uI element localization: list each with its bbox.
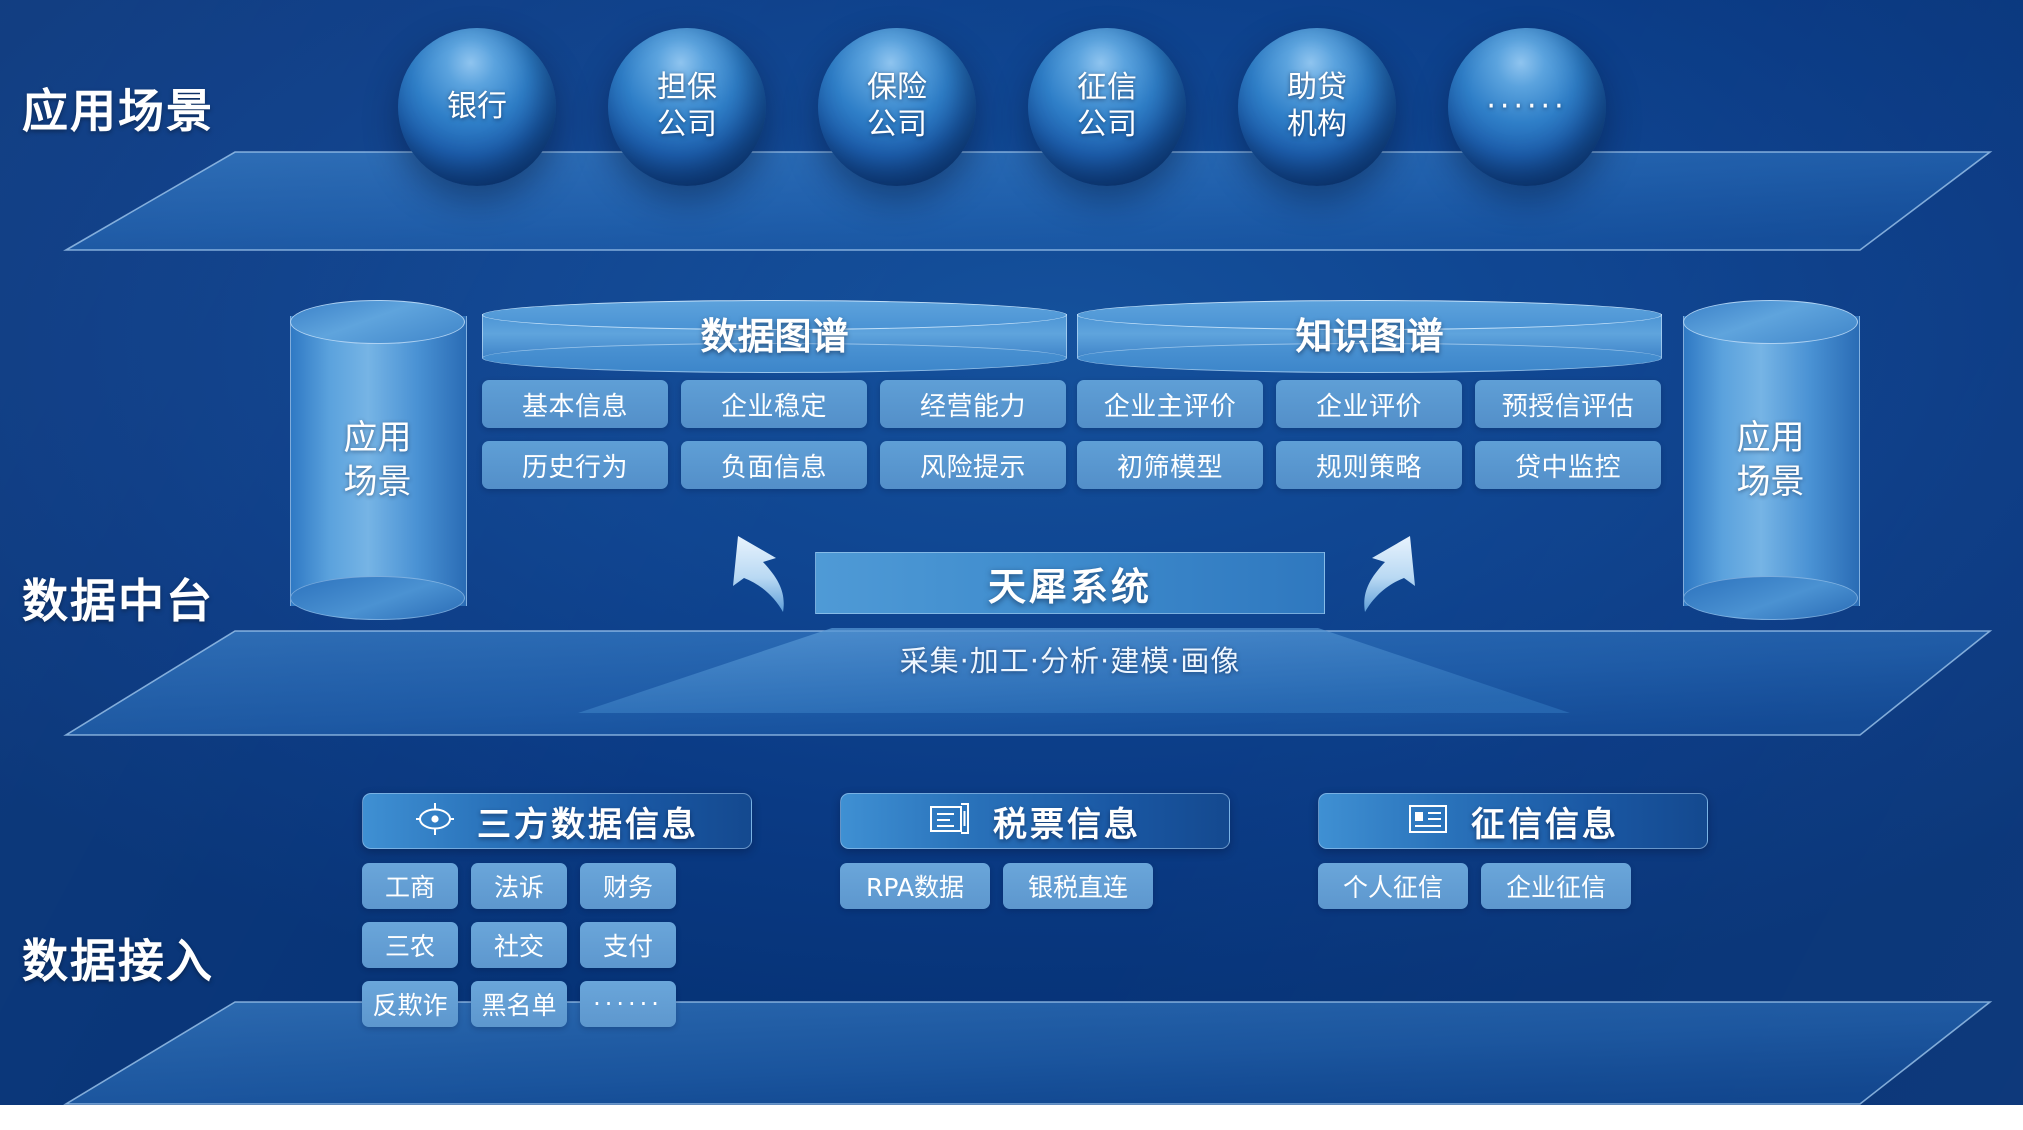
arrow-up-right-icon: [1330, 528, 1440, 638]
sphere-loan-facilitator[interactable]: 助贷 机构: [1238, 28, 1396, 186]
access-group-title: 税票信息: [993, 797, 1141, 846]
row-label-dataaccess: 数据接入: [22, 925, 214, 991]
sphere-bank[interactable]: 银行: [398, 28, 556, 186]
graph-header-disc: 数据图谱: [482, 300, 1067, 366]
platform-dataaccess: [0, 1000, 2023, 1112]
graph-header-disc: 知识图谱: [1077, 300, 1662, 366]
access-tag[interactable]: 支付: [580, 922, 676, 968]
pill-item[interactable]: 基本信息: [482, 380, 668, 428]
architecture-diagram: 应用场景 数据中台 数据接入 银行 担保 公司 保险 公司 征信 公司 助贷 机…: [0, 0, 2023, 1130]
arrow-up-left-icon: [708, 528, 818, 638]
access-tag[interactable]: 企业征信: [1481, 863, 1631, 909]
cylinder-label-wrap: 应用 场景: [290, 300, 465, 620]
pill-item[interactable]: 企业稳定: [681, 380, 867, 428]
platform-application: [0, 150, 2023, 260]
access-group-title: 征信信息: [1471, 797, 1619, 846]
row-label-midplatform: 数据中台: [22, 565, 214, 631]
sphere-insurance-company[interactable]: 保险 公司: [818, 28, 976, 186]
access-tag[interactable]: 工商: [362, 863, 458, 909]
id-card-icon: [1407, 802, 1449, 841]
access-tag[interactable]: 银税直连: [1003, 863, 1153, 909]
sphere-label: 银行: [447, 89, 507, 126]
access-tag[interactable]: RPA数据: [840, 863, 990, 909]
access-tag-grid: 工商 法诉 财务 三农 社交 支付 反欺诈 黑名单 ······: [362, 863, 752, 1027]
access-group-third-party: 三方数据信息 工商 法诉 财务 三农 社交 支付 反欺诈 黑名单 ······: [362, 793, 752, 1027]
cylinder-label: 应用 场景: [1737, 416, 1805, 504]
access-group-title: 三方数据信息: [477, 797, 699, 846]
pill-item[interactable]: 初筛模型: [1077, 441, 1263, 489]
graph-data-map: 数据图谱 基本信息 企业稳定 经营能力 历史行为 负面信息 风险提示: [482, 300, 1067, 489]
pill-item[interactable]: 负面信息: [681, 441, 867, 489]
pill-item[interactable]: 企业主评价: [1077, 380, 1263, 428]
access-group-tax-invoice: 税票信息 RPA数据 银税直连: [840, 793, 1230, 909]
pill-item[interactable]: 历史行为: [482, 441, 668, 489]
sphere-label: ······: [1486, 89, 1567, 126]
pill-item[interactable]: 企业评价: [1276, 380, 1462, 428]
graph-knowledge-map: 知识图谱 企业主评价 企业评价 预授信评估 初筛模型 规则策略 贷中监控: [1077, 300, 1662, 489]
access-tag-grid: 个人征信 企业征信: [1318, 863, 1708, 909]
core-system-subtitle: 采集·加工·分析·建模·画像: [815, 638, 1325, 680]
access-tag[interactable]: 财务: [580, 863, 676, 909]
sphere-credit-company[interactable]: 征信 公司: [1028, 28, 1186, 186]
access-group-header[interactable]: 三方数据信息: [362, 793, 752, 849]
graph-pill-grid: 基本信息 企业稳定 经营能力 历史行为 负面信息 风险提示: [482, 380, 1067, 489]
target-icon: [415, 801, 455, 842]
pill-item[interactable]: 规则策略: [1276, 441, 1462, 489]
core-system-banner[interactable]: 天犀系统: [815, 552, 1325, 614]
cylinder-application-scene-right: 应用 场景: [1683, 300, 1858, 620]
access-group-credit: 征信信息 个人征信 企业征信: [1318, 793, 1708, 909]
sphere-guarantee-company[interactable]: 担保 公司: [608, 28, 766, 186]
cylinder-application-scene-left: 应用 场景: [290, 300, 465, 620]
row-label-application: 应用场景: [22, 75, 214, 141]
cylinder-label: 应用 场景: [344, 416, 412, 504]
core-system-slab: 天犀系统: [815, 552, 1325, 614]
access-group-header[interactable]: 税票信息: [840, 793, 1230, 849]
access-tag[interactable]: 法诉: [471, 863, 567, 909]
access-tag[interactable]: 三农: [362, 922, 458, 968]
sphere-label: 征信 公司: [1077, 70, 1137, 143]
core-system-title: 天犀系统: [988, 556, 1152, 611]
access-group-header[interactable]: 征信信息: [1318, 793, 1708, 849]
pill-item[interactable]: 风险提示: [880, 441, 1066, 489]
access-tag[interactable]: 反欺诈: [362, 981, 458, 1027]
pill-item[interactable]: 预授信评估: [1475, 380, 1661, 428]
graph-title: 数据图谱: [482, 300, 1067, 366]
access-tag[interactable]: 个人征信: [1318, 863, 1468, 909]
graph-pill-grid: 企业主评价 企业评价 预授信评估 初筛模型 规则策略 贷中监控: [1077, 380, 1662, 489]
sphere-label: 担保 公司: [657, 70, 717, 143]
sphere-label: 保险 公司: [867, 70, 927, 143]
access-tag-more[interactable]: ······: [580, 981, 676, 1027]
sphere-label: 助贷 机构: [1287, 70, 1347, 143]
pill-item[interactable]: 贷中监控: [1475, 441, 1661, 489]
access-tag-grid: RPA数据 银税直连: [840, 863, 1230, 909]
sphere-more[interactable]: ······: [1448, 28, 1606, 186]
cylinder-label-wrap: 应用 场景: [1683, 300, 1858, 620]
access-tag[interactable]: 黑名单: [471, 981, 567, 1027]
pill-item[interactable]: 经营能力: [880, 380, 1066, 428]
access-tag[interactable]: 社交: [471, 922, 567, 968]
invoice-icon: [929, 802, 971, 841]
graph-title: 知识图谱: [1077, 300, 1662, 366]
